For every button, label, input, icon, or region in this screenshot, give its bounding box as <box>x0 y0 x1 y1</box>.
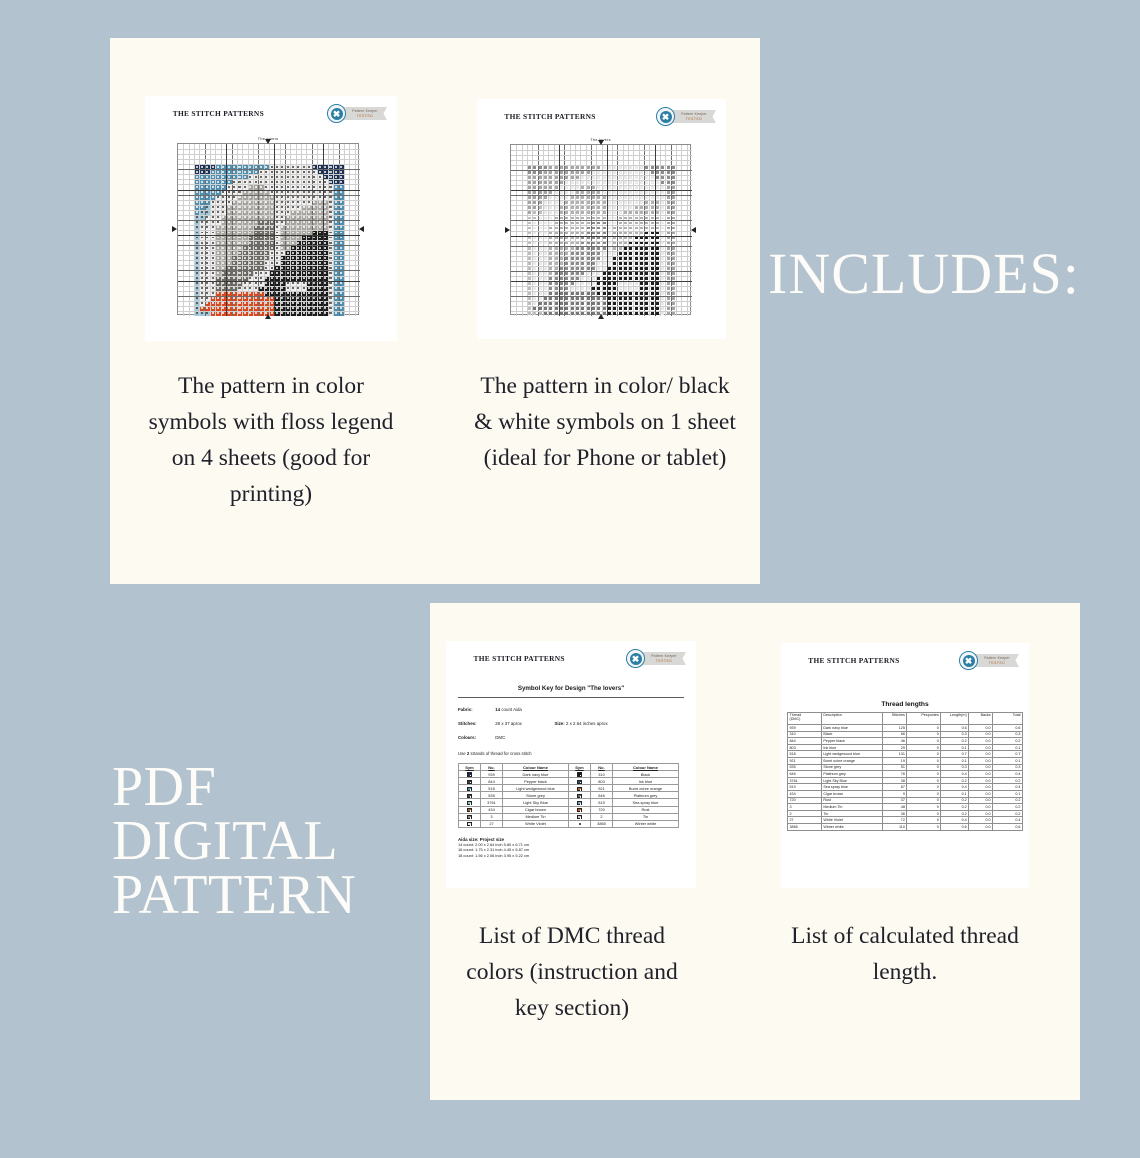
table-cell: Sea spray blue <box>821 784 883 791</box>
stitch-symbol <box>265 267 267 269</box>
sheet-dmc-key[interactable]: THE STITCH PATTERNS ✖ Pattern Keeper TES… <box>446 641 696 888</box>
table-row[interactable]: 518Light wedgewood blue921Burnt ochre or… <box>459 785 679 792</box>
stitch-symbol <box>587 232 590 235</box>
stitch-symbol <box>555 237 558 240</box>
stitch-symbol <box>651 186 654 189</box>
stitch-symbol <box>313 226 315 228</box>
stitch-symbol <box>629 272 632 275</box>
stitch-symbol <box>597 287 600 290</box>
stitch-symbol <box>576 252 579 255</box>
table-row[interactable]: 939Dark navy blue310Black <box>459 771 679 778</box>
stitch-symbol <box>249 221 251 223</box>
stitch-symbol <box>635 222 638 225</box>
stitch-symbol <box>651 222 654 225</box>
table-cell: 0 <box>907 731 941 738</box>
stitch-symbol <box>667 262 670 265</box>
stitch-symbol <box>271 232 273 234</box>
stitch-symbol <box>313 191 315 193</box>
stitch-symbol <box>271 237 273 239</box>
table-cell: Pepper black <box>821 738 883 745</box>
stitch-symbol <box>212 262 214 264</box>
table-cell <box>569 771 591 778</box>
badge-ribbon: Pattern Keeper TESTED <box>642 652 686 665</box>
thread-lengths-table[interactable]: Thread(DMC)DescriptionStitchesPespuntesL… <box>787 712 1023 831</box>
stitch-symbol <box>667 232 670 235</box>
stitch-symbol <box>597 186 600 189</box>
stitch-symbol <box>228 221 230 223</box>
stitch-symbol <box>324 176 326 178</box>
stitch-symbol <box>533 201 536 204</box>
stitch-symbol <box>608 237 611 240</box>
stitch-symbol <box>651 176 654 179</box>
table-cell <box>459 799 481 806</box>
stitch-symbol <box>217 216 219 218</box>
stitch-symbol <box>560 242 563 245</box>
stitch-symbol <box>329 302 331 304</box>
caption-color-pattern: The pattern in color symbols with floss … <box>148 368 394 512</box>
stitch-symbol <box>329 232 331 234</box>
stitch-symbol <box>635 196 638 199</box>
stitch-symbol <box>271 302 273 304</box>
stitch-symbol <box>319 242 321 244</box>
stitch-symbol <box>597 181 600 184</box>
stitch-symbol <box>528 302 531 305</box>
sheet-thread-lengths[interactable]: THE STITCH PATTERNS ✖ Pattern Keeper TES… <box>781 643 1029 888</box>
stitch-symbol <box>303 237 305 239</box>
stitch-symbol <box>276 312 278 314</box>
stitch-symbol <box>228 297 230 299</box>
stitch-symbol <box>549 181 552 184</box>
stitch-symbol <box>661 211 664 214</box>
table-row[interactable]: 519Sea spray blue8700.40.00.4 <box>788 784 1023 791</box>
stitch-symbol <box>533 262 536 265</box>
table-cell: Platinum grey <box>821 771 883 778</box>
table-row[interactable]: 310Black6600.30.00.3 <box>788 731 1023 738</box>
stitch-symbol <box>661 191 664 194</box>
stitch-symbol <box>587 282 590 285</box>
stitch-symbol <box>624 312 627 315</box>
table-row[interactable]: 646Platinum grey7600.40.00.4 <box>788 771 1023 778</box>
stitch-symbol <box>672 302 675 305</box>
stitch-symbol <box>539 217 542 220</box>
stitch-symbol <box>292 297 294 299</box>
stitch-symbol <box>260 211 262 213</box>
stitch-symbol <box>656 252 659 255</box>
stitch-symbol <box>629 181 632 184</box>
stitch-symbol <box>571 166 574 169</box>
stitch-symbol <box>319 186 321 188</box>
stitch-symbol <box>196 181 198 183</box>
stitch-symbol <box>265 221 267 223</box>
stitch-symbol <box>196 282 198 284</box>
stitch-symbol <box>661 272 664 275</box>
column-header: Total <box>993 713 1023 725</box>
table-cell: 0.7 <box>993 751 1023 758</box>
table-cell: 0.0 <box>969 764 993 771</box>
stitch-symbol <box>608 232 611 235</box>
symbol-key-table[interactable]: SymNo.Colour NameSymNo.Colour Name 939Da… <box>458 763 679 828</box>
table-cell: Sea spray blue <box>613 799 679 806</box>
table-row[interactable]: 844Pepper black4600.20.00.2 <box>788 738 1023 745</box>
stitch-symbol <box>581 297 584 300</box>
stitch-symbol <box>587 257 590 260</box>
stitch-symbol <box>539 267 542 270</box>
stitch-symbol <box>651 171 654 174</box>
stitch-symbol <box>297 312 299 314</box>
table-row[interactable]: 2Tin3600.20.00.2 <box>788 810 1023 817</box>
stitch-symbol <box>528 262 531 265</box>
stitch-symbol <box>265 262 267 264</box>
stitch-symbol <box>222 237 224 239</box>
table-body: 939Dark navy blue12500.60.00.6310Black66… <box>788 725 1023 831</box>
stitch-symbol <box>260 267 262 269</box>
stitch-symbol <box>335 277 337 279</box>
stitch-symbol <box>613 201 616 204</box>
table-row[interactable]: 518Light wedgewood blue13100.70.00.7 <box>788 751 1023 758</box>
stitch-symbol <box>255 196 257 198</box>
stitch-symbol <box>329 201 331 203</box>
table-row[interactable]: 803Ink blue2900.10.00.1 <box>788 744 1023 751</box>
stitch-symbol <box>629 312 632 315</box>
stitch-symbol <box>656 191 659 194</box>
stitch-symbol <box>238 196 240 198</box>
table-body: 939Dark navy blue310Black844Pepper black… <box>459 771 679 828</box>
stitch-symbol <box>292 257 294 259</box>
table-cell: 720 <box>591 806 613 813</box>
stitch-symbol <box>645 237 648 240</box>
stitch-symbol <box>613 252 616 255</box>
stitch-symbol <box>581 217 584 220</box>
stitch-symbol <box>571 277 574 280</box>
stitch-symbol <box>603 242 606 245</box>
table-row[interactable]: 3Medium Tin2Tin <box>459 813 679 820</box>
stitch-symbol <box>308 186 310 188</box>
stitch-symbol <box>303 277 305 279</box>
stitch-symbol <box>603 201 606 204</box>
stitch-symbol <box>335 226 337 228</box>
stitch-symbol <box>528 201 531 204</box>
symbol-swatch <box>467 815 471 819</box>
stitch-symbol <box>533 196 536 199</box>
stitch-symbol <box>640 171 643 174</box>
stitch-symbol <box>233 176 235 178</box>
stitch-symbol <box>217 292 219 294</box>
stitch-symbol <box>560 297 563 300</box>
stitch-symbol <box>313 272 315 274</box>
stitch-symbol <box>206 221 208 223</box>
stitch-symbol <box>667 176 670 179</box>
stitch-symbol <box>667 237 670 240</box>
sheet-header: THE STITCH PATTERNS ✖ Pattern Keeper TES… <box>477 99 726 133</box>
stitch-symbol <box>587 191 590 194</box>
stitch-symbol <box>555 312 558 315</box>
stitch-symbol <box>656 277 659 280</box>
stitch-symbol <box>217 181 219 183</box>
bw-stitch-chart[interactable]: The lovers <box>510 144 691 315</box>
table-cell: 0.4 <box>993 771 1023 778</box>
stitch-symbol <box>555 302 558 305</box>
stitch-symbol <box>335 216 337 218</box>
stitch-symbol <box>560 277 563 280</box>
stitch-symbol <box>608 272 611 275</box>
stitch-symbol <box>238 232 240 234</box>
stitch-symbol <box>645 267 648 270</box>
stitch-symbol <box>555 211 558 214</box>
stitch-symbol <box>233 272 235 274</box>
table-row[interactable]: 27White Violet3865Winter white <box>459 820 679 827</box>
stitch-symbol <box>539 292 542 295</box>
stitch-symbol <box>228 191 230 193</box>
stitch-symbol <box>672 247 675 250</box>
stitch-symbol <box>667 222 670 225</box>
stitch-symbol <box>292 186 294 188</box>
stitch-symbol <box>196 196 198 198</box>
stitch-symbol <box>560 217 563 220</box>
stitch-symbol <box>324 257 326 259</box>
stitch-symbol <box>651 257 654 260</box>
stitch-symbol <box>661 181 664 184</box>
stitch-symbol <box>555 166 558 169</box>
brand-title: THE STITCH PATTERNS <box>504 112 595 121</box>
stitch-symbol <box>217 201 219 203</box>
stitch-symbol <box>319 307 321 309</box>
stitch-symbol <box>651 307 654 310</box>
stitch-symbol <box>206 262 208 264</box>
stitch-symbol <box>287 166 289 168</box>
column-header: Colour Name <box>613 764 679 771</box>
stitch-symbol <box>335 166 337 168</box>
grid-line <box>178 270 360 271</box>
stitch-symbol <box>271 226 273 228</box>
stitch-symbol <box>265 206 267 208</box>
stitch-symbol <box>196 226 198 228</box>
stitch-symbol <box>255 247 257 249</box>
stitch-symbol <box>287 267 289 269</box>
stitch-symbol <box>297 257 299 259</box>
grid-line <box>511 271 692 272</box>
stitch-symbol <box>544 242 547 245</box>
stitch-symbol <box>645 166 648 169</box>
stitch-symbol <box>217 206 219 208</box>
stitch-symbol <box>276 302 278 304</box>
table-row[interactable]: 434Cigar brown900.10.00.1 <box>788 790 1023 797</box>
stitch-symbol <box>313 297 315 299</box>
table-cell: 0 <box>907 757 941 764</box>
stitch-symbol <box>217 242 219 244</box>
stitch-symbol <box>212 181 214 183</box>
stitch-symbol <box>324 232 326 234</box>
stitch-symbol <box>335 287 337 289</box>
stitch-symbol <box>555 206 558 209</box>
stitch-symbol <box>217 191 219 193</box>
grid-major-line <box>511 281 692 282</box>
stitch-symbol <box>201 302 203 304</box>
stitch-symbol <box>560 267 563 270</box>
stitch-symbol <box>329 211 331 213</box>
stitch-symbol <box>597 237 600 240</box>
stitch-symbol <box>340 297 342 299</box>
table-row[interactable]: 3761Light Sky Blue519Sea spray blue <box>459 799 679 806</box>
stitch-symbol <box>667 211 670 214</box>
table-cell <box>459 820 481 827</box>
stitch-symbol <box>544 277 547 280</box>
stitch-symbol <box>656 181 659 184</box>
table-cell: 3865 <box>591 820 613 827</box>
stitch-symbol <box>597 292 600 295</box>
table-cell: 720 <box>788 797 822 804</box>
stitch-symbol <box>233 257 235 259</box>
stitch-symbol <box>672 237 675 240</box>
color-stitch-chart[interactable]: The lovers <box>177 143 359 315</box>
stitch-symbol <box>672 242 675 245</box>
stitch-symbol <box>661 186 664 189</box>
caption-thread-length: List of calculated thread length. <box>778 918 1032 990</box>
stitch-symbol <box>555 186 558 189</box>
stitch-symbol <box>281 257 283 259</box>
stitch-symbol <box>555 227 558 230</box>
stitch-symbol <box>260 181 262 183</box>
stitch-symbol <box>613 176 616 179</box>
stitch-symbol <box>619 247 622 250</box>
stitch-symbol <box>533 247 536 250</box>
stitch-symbol <box>313 171 315 173</box>
table-row[interactable]: 3Medium Tin4800.20.00.2 <box>788 804 1023 811</box>
table-cell: Ink blue <box>821 744 883 751</box>
stitch-symbol <box>222 196 224 198</box>
grid-major-line <box>323 144 324 316</box>
stitch-symbol <box>308 312 310 314</box>
stitch-symbol <box>206 181 208 183</box>
stitch-symbol <box>667 282 670 285</box>
stitch-symbol <box>212 232 214 234</box>
stitch-symbol <box>549 292 552 295</box>
stitch-symbol <box>260 237 262 239</box>
stitch-symbol <box>228 282 230 284</box>
stitch-symbol <box>565 211 568 214</box>
stitch-symbol <box>287 186 289 188</box>
symbol-swatch <box>467 808 471 812</box>
stitch-symbol <box>640 307 643 310</box>
stitch-symbol <box>656 176 659 179</box>
stitch-symbol <box>661 252 664 255</box>
stitch-symbol <box>635 292 638 295</box>
stitch-symbol <box>329 282 331 284</box>
stitch-symbol <box>560 227 563 230</box>
stitch-symbol <box>196 292 198 294</box>
stitch-symbol <box>324 226 326 228</box>
sheet-bw-pattern[interactable]: THE STITCH PATTERNS ✖ Pattern Keeper TES… <box>477 99 726 339</box>
stitch-symbol <box>292 226 294 228</box>
stitch-symbol <box>265 302 267 304</box>
table-row[interactable]: 535Stone grey646Platinum grey <box>459 792 679 799</box>
stitch-symbol <box>324 221 326 223</box>
stitch-symbol <box>287 292 289 294</box>
stitch-symbol <box>576 181 579 184</box>
stitch-symbol <box>571 252 574 255</box>
stitch-symbol <box>340 242 342 244</box>
table-cell: 48 <box>883 804 907 811</box>
stitch-symbol <box>206 307 208 309</box>
stitch-symbol <box>201 267 203 269</box>
table-cell: 0.0 <box>969 823 993 830</box>
stitch-symbol <box>608 287 611 290</box>
table-row[interactable]: 720Rust3700.20.00.2 <box>788 797 1023 804</box>
stitch-symbol <box>292 232 294 234</box>
stitch-symbol <box>533 191 536 194</box>
stitch-symbol <box>603 171 606 174</box>
stitch-symbol <box>281 191 283 193</box>
stitch-symbol <box>635 312 638 315</box>
grid-major-line <box>274 144 275 316</box>
stitch-symbol <box>324 277 326 279</box>
stitch-symbol <box>233 166 235 168</box>
stitch-symbol <box>340 307 342 309</box>
stitch-symbol <box>233 307 235 309</box>
stitch-symbol <box>281 307 283 309</box>
stitch-symbol <box>672 312 675 315</box>
stitch-symbol <box>319 232 321 234</box>
stitch-symbol <box>565 176 568 179</box>
stitch-symbol <box>260 232 262 234</box>
stitch-symbol <box>656 267 659 270</box>
table-row[interactable]: 434Cigar brown720Rust <box>459 806 679 813</box>
stitch-symbol <box>544 217 547 220</box>
stitch-symbol <box>276 206 278 208</box>
stitch-symbol <box>651 262 654 265</box>
table-row[interactable]: 3865Winter white11000.60.00.6 <box>788 823 1023 830</box>
stitch-symbol <box>608 262 611 265</box>
center-marker-left <box>505 227 510 233</box>
table-row[interactable]: 3761Light Sky Blue3800.20.00.2 <box>788 777 1023 784</box>
stitch-symbol <box>667 171 670 174</box>
stitch-symbol <box>571 247 574 250</box>
table-cell <box>459 792 481 799</box>
table-row[interactable]: 844Pepper black803Ink blue <box>459 778 679 785</box>
table-cell: 0 <box>907 764 941 771</box>
stitch-symbol <box>533 287 536 290</box>
stitch-symbol <box>244 171 246 173</box>
table-cell: 0.2 <box>993 738 1023 745</box>
table-row[interactable]: 27White Violet7200.40.00.4 <box>788 817 1023 824</box>
stitch-symbol <box>592 292 595 295</box>
stitch-symbol <box>201 171 203 173</box>
stitch-symbol <box>560 186 563 189</box>
sheet-color-pattern[interactable]: THE STITCH PATTERNS ✖ Pattern Keeper TES… <box>145 96 397 341</box>
stitch-symbol <box>292 307 294 309</box>
stitch-symbol <box>329 226 331 228</box>
stitch-symbol <box>555 267 558 270</box>
table-row[interactable]: 535Stone grey5100.30.00.3 <box>788 764 1023 771</box>
stitch-symbol <box>308 216 310 218</box>
stitch-symbol <box>560 196 563 199</box>
stitch-symbol <box>656 232 659 235</box>
stitch-symbol <box>287 196 289 198</box>
stitch-symbol <box>233 292 235 294</box>
aida-size-block: Aida size: Project size 14 count: 2.00 x… <box>458 837 529 858</box>
stitch-symbol <box>276 237 278 239</box>
stitch-symbol <box>303 262 305 264</box>
stitch-symbol <box>672 292 675 295</box>
table-cell: Black <box>821 731 883 738</box>
stitch-symbol <box>672 297 675 300</box>
table-row[interactable]: 939Dark navy blue12500.60.00.6 <box>788 725 1023 732</box>
stitch-symbol <box>528 211 531 214</box>
table-row[interactable]: 921Burnt ochre orange1900.10.00.1 <box>788 757 1023 764</box>
stitch-symbol <box>313 247 315 249</box>
table-cell <box>569 785 591 792</box>
stitch-symbol <box>228 262 230 264</box>
stitch-symbol <box>651 201 654 204</box>
